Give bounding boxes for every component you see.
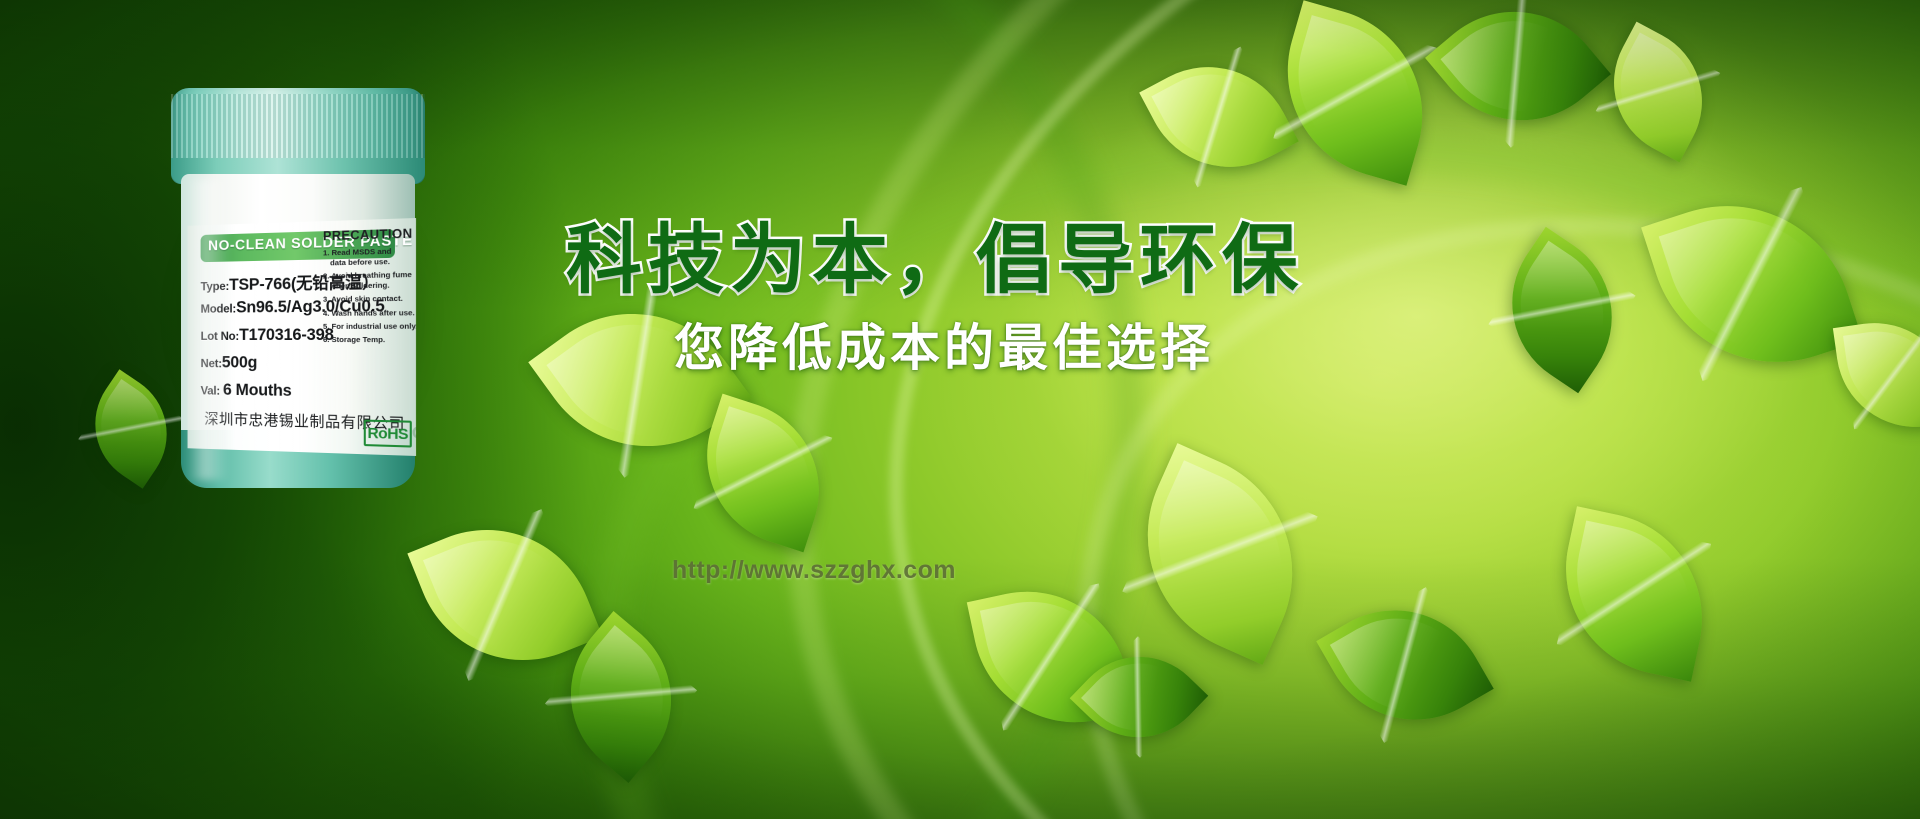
label-spec-net-key: Net: [201, 356, 222, 370]
marketing-copy: 科技为本，倡导环保 您降低成本的最佳选择 [566, 222, 1386, 375]
label-spec-val-key: Val: [201, 384, 223, 398]
precaution-item: 4. Wash hands after use. [323, 308, 416, 319]
label-spec-lot-value: T170316-398 [239, 326, 334, 344]
subheadline-text: 您降低成本的最佳选择 [566, 322, 1386, 375]
label-spec-lot-key: Lot No: [201, 329, 239, 343]
rohs-label: RoHS [367, 424, 408, 443]
rohs-icon: RoHS [364, 420, 412, 448]
precaution-item-line2: when soldering. [323, 280, 416, 292]
precaution-item: 6. Storage Temp. [323, 335, 416, 345]
label-spec-lot: Lot No:T170316-398 [201, 326, 334, 345]
precaution-item: 5. For industrial use only. [323, 321, 416, 332]
headline-text: 科技为本，倡导环保 [566, 222, 1386, 298]
jar-lid [171, 88, 425, 184]
label-spec-type-key: Type: [201, 279, 229, 293]
precaution-item-line2: data before use. [323, 256, 416, 268]
website-url[interactable]: http://www.szzghx.com [672, 556, 956, 585]
product-label: NO-CLEAN SOLDER PASTE Type:TSP-766(无铅高温）… [188, 218, 417, 456]
label-spec-model-key: Model: [201, 302, 236, 316]
jar-lid-ribs [171, 94, 425, 158]
precaution-title: PRECAUTION [323, 226, 416, 243]
product-jar-image: NO-CLEAN SOLDER PASTE Type:TSP-766(无铅高温）… [163, 88, 433, 488]
label-spec-net-value: 500g [222, 354, 257, 372]
label-spec-val: Val: 6 Mouths [201, 381, 292, 401]
label-spec-val-value: 6 Mouths [223, 381, 292, 400]
label-spec-net: Net:500g [201, 354, 258, 373]
promo-banner: NO-CLEAN SOLDER PASTE Type:TSP-766(无铅高温）… [0, 0, 1920, 819]
precaution-item: 1. Read MSDS anddata before use. [323, 246, 416, 269]
precaution-list: 1. Read MSDS anddata before use.2. Avoid… [323, 246, 416, 345]
precaution-item: 3. Avoid skin contact. [323, 294, 416, 305]
ce-icon: CE [412, 423, 416, 447]
label-precaution-block: PRECAUTION 1. Read MSDS anddata before u… [323, 226, 416, 348]
precaution-item: 2. Avoid breathing fumewhen soldering. [323, 270, 416, 292]
